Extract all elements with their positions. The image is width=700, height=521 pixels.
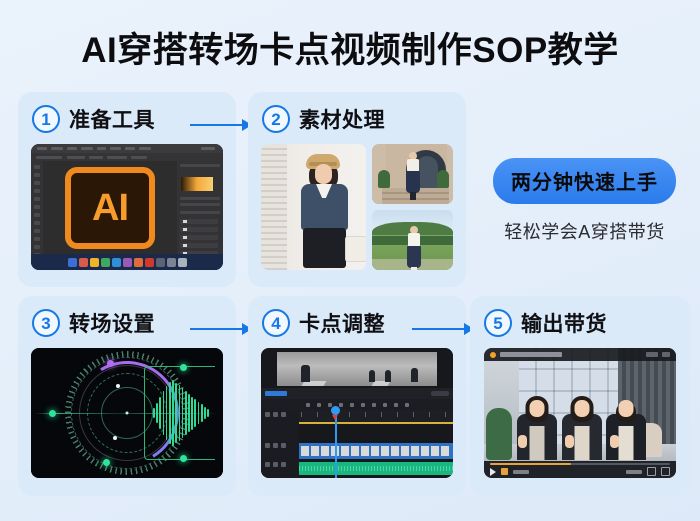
radial-visualizer bbox=[31, 348, 223, 478]
video-track-clip[interactable] bbox=[299, 443, 453, 459]
presenter-right bbox=[602, 390, 650, 460]
photo-grid bbox=[261, 144, 453, 270]
step-1-label: 准备工具 bbox=[69, 104, 155, 134]
player-controls[interactable] bbox=[484, 461, 676, 478]
illustrator-menubar bbox=[31, 144, 223, 153]
step-5-label: 输出带货 bbox=[521, 308, 607, 338]
step-3-number: 3 bbox=[32, 309, 60, 337]
arrow-step-1-to-2 bbox=[190, 118, 252, 132]
outfit-photo-building bbox=[372, 144, 453, 204]
arrow-shaft bbox=[190, 124, 242, 127]
video-player bbox=[484, 348, 676, 478]
arrow-step-3-to-4 bbox=[190, 322, 252, 336]
player-title-bar bbox=[484, 348, 676, 361]
progress-bar[interactable] bbox=[490, 463, 670, 465]
step-2-number: 2 bbox=[262, 105, 290, 133]
step-5-number: 5 bbox=[484, 309, 512, 337]
nle-toolbar bbox=[261, 399, 453, 410]
playhead[interactable] bbox=[335, 410, 337, 478]
transition-radial-waveform bbox=[31, 348, 223, 478]
audio-track-clip[interactable] bbox=[299, 462, 453, 475]
beat-marker-icon bbox=[332, 415, 338, 420]
node-wave-bottom bbox=[180, 455, 187, 462]
step-card-2[interactable]: 2 素材处理 bbox=[248, 92, 466, 287]
node-wave-top bbox=[180, 364, 187, 371]
os-dock bbox=[31, 254, 223, 270]
step-2-header: 2 素材处理 bbox=[262, 104, 385, 134]
step-4-header: 4 卡点调整 bbox=[262, 308, 385, 338]
nle-project-bar bbox=[261, 388, 453, 399]
illustrator-canvas: AI bbox=[43, 161, 177, 254]
pip-icon[interactable] bbox=[647, 467, 656, 476]
arrow-shaft bbox=[190, 328, 242, 331]
presenter-left bbox=[514, 394, 560, 460]
illustrator-screenshot: AI bbox=[31, 144, 223, 270]
highlight-block: 两分钟快速上手 轻松学会A穿搭带货 bbox=[482, 158, 687, 244]
timeline-marker-line bbox=[299, 422, 453, 424]
outfit-photo-grid bbox=[261, 144, 453, 270]
outfit-photo-side-stack bbox=[372, 144, 453, 270]
playhead-knob[interactable] bbox=[331, 406, 340, 415]
illustrator-options-bar bbox=[31, 153, 223, 161]
video-player-preview bbox=[484, 348, 676, 478]
node-purple-top bbox=[107, 360, 114, 367]
arrow-step-4-to-5 bbox=[412, 322, 474, 336]
nle-status-chip bbox=[431, 391, 449, 396]
project-tab bbox=[265, 391, 287, 396]
next-icon[interactable] bbox=[501, 468, 508, 475]
poster-root: AI穿搭转场卡点视频制作SOP教学 1 准备工具 bbox=[0, 0, 700, 521]
ai-logo-icon: AI bbox=[65, 167, 155, 249]
ai-logo-text: AI bbox=[92, 189, 128, 227]
step-3-header: 3 转场设置 bbox=[32, 308, 155, 338]
step-5-header: 5 输出带货 bbox=[484, 308, 607, 338]
arrow-shaft bbox=[412, 328, 464, 331]
outfit-photo-main bbox=[261, 144, 366, 270]
audio-waveform bbox=[153, 380, 209, 446]
duration-display bbox=[626, 470, 642, 474]
play-icon[interactable] bbox=[490, 468, 496, 476]
presenter-center bbox=[559, 398, 605, 460]
step-2-label: 素材处理 bbox=[299, 104, 385, 134]
record-dot-icon bbox=[490, 352, 496, 358]
step-1-header: 1 准备工具 bbox=[32, 104, 155, 134]
video-editor-timeline bbox=[261, 348, 453, 478]
track-headers bbox=[261, 410, 299, 478]
timeline-ruler[interactable] bbox=[299, 410, 453, 422]
step-4-number: 4 bbox=[262, 309, 290, 337]
illustrator-panels bbox=[177, 161, 223, 254]
illustrator-window: AI bbox=[31, 144, 223, 270]
fullscreen-icon[interactable] bbox=[661, 467, 670, 476]
highlight-subtitle: 轻松学会A穿搭带货 bbox=[482, 218, 687, 244]
highlight-badge: 两分钟快速上手 bbox=[493, 158, 676, 204]
step-4-label: 卡点调整 bbox=[299, 308, 385, 338]
illustrator-toolbox bbox=[31, 161, 43, 254]
step-3-label: 转场设置 bbox=[69, 308, 155, 338]
time-display bbox=[513, 470, 529, 474]
step-card-5[interactable]: 5 输出带货 bbox=[470, 296, 690, 496]
gradient-swatch bbox=[181, 177, 213, 191]
share-icon[interactable] bbox=[646, 352, 658, 357]
video-title-placeholder bbox=[500, 352, 562, 357]
step-1-number: 1 bbox=[32, 105, 60, 133]
nle-window bbox=[261, 348, 453, 478]
node-green-bottom bbox=[103, 459, 110, 466]
page-title: AI穿搭转场卡点视频制作SOP教学 bbox=[0, 22, 700, 73]
outfit-photo-lawn bbox=[372, 210, 453, 270]
menu-icon[interactable] bbox=[662, 352, 670, 357]
video-scene bbox=[484, 348, 676, 478]
plant-decor bbox=[486, 408, 512, 460]
node-green-left bbox=[49, 410, 56, 417]
preview-monitor bbox=[277, 352, 437, 386]
